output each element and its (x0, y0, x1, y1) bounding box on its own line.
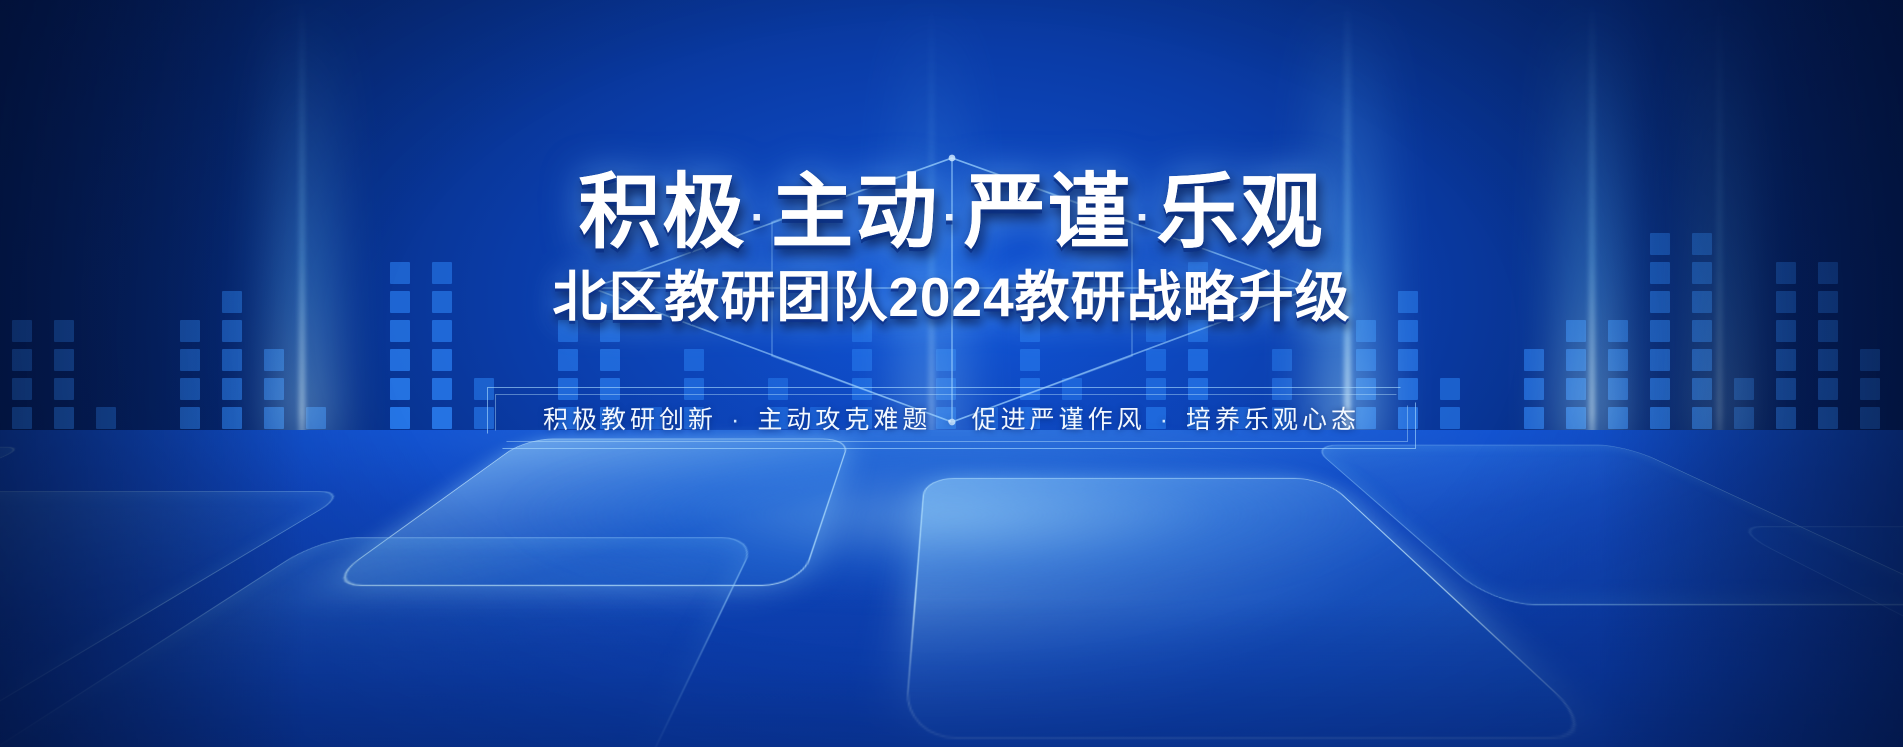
title-word-3: 严谨 (964, 167, 1132, 258)
tagline-frame: 积极教研创新·主动攻克难题·促进严谨作风·培养乐观心态 (487, 387, 1416, 449)
banner-tagline: 积极教研创新·主动攻克难题·促进严谨作风·培养乐观心态 (543, 400, 1360, 436)
title-separator: · (747, 193, 772, 242)
tagline-item-3: 促进严谨作风 (972, 406, 1146, 434)
tagline-separator: · (1146, 406, 1186, 434)
title-separator: · (1132, 193, 1157, 242)
tagline-item-1: 积极教研创新 (543, 406, 717, 434)
tagline-item-2: 主动攻克难题 (757, 406, 931, 434)
tagline-separator: · (717, 406, 757, 434)
banner-subtitle: 北区教研团队2024教研战略升级 (552, 270, 1350, 325)
title-separator: · (939, 193, 964, 242)
tagline-item-4: 培养乐观心态 (1186, 406, 1360, 434)
banner-title-main: 积极·主动·严谨·乐观 (578, 172, 1324, 254)
floor-fade (0, 600, 1903, 747)
tagline-separator: · (931, 406, 971, 434)
hero-banner: 积极·主动·严谨·乐观 北区教研团队2024教研战略升级 积极教研创新·主动攻克… (0, 0, 1903, 747)
banner-content: 积极·主动·严谨·乐观 北区教研团队2024教研战略升级 积极教研创新·主动攻克… (0, 0, 1903, 449)
title-word-2: 主动 (771, 167, 939, 258)
title-word-1: 积极 (578, 167, 746, 258)
title-word-4: 乐观 (1157, 167, 1325, 258)
